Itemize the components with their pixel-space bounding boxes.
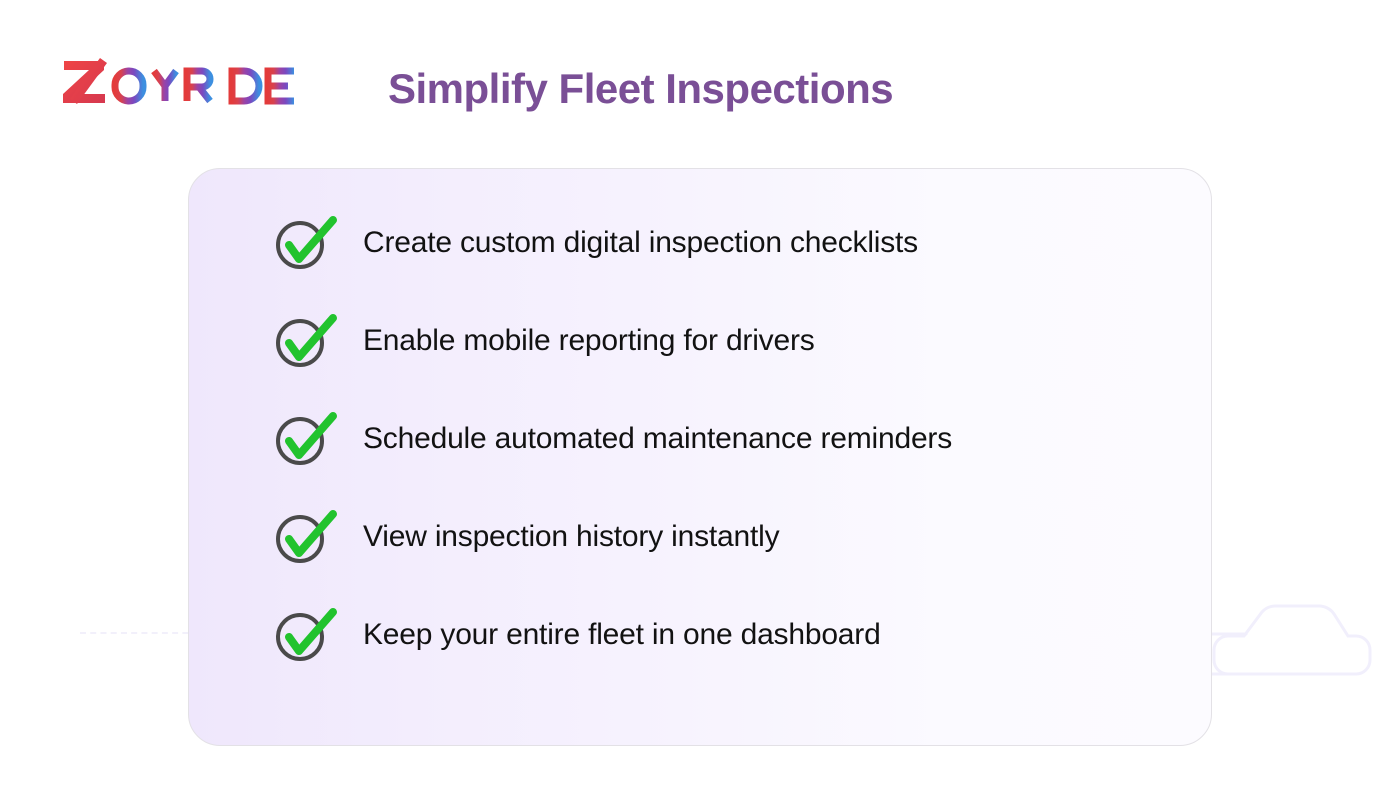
feature-list: Create custom digital inspection checkli… <box>275 217 1175 661</box>
list-item: Schedule automated maintenance reminders <box>275 413 1175 465</box>
check-circle-icon <box>275 412 337 466</box>
logo-wordmark <box>115 71 294 101</box>
check-circle-icon <box>275 608 337 662</box>
list-item: Keep your entire fleet in one dashboard <box>275 609 1175 661</box>
feature-card: Create custom digital inspection checkli… <box>188 168 1212 746</box>
logo-z-monogram <box>63 58 107 104</box>
page-title: Simplify Fleet Inspections <box>388 58 893 120</box>
logo-mark <box>60 55 300 107</box>
list-item: Enable mobile reporting for drivers <box>275 315 1175 367</box>
list-item-label: View inspection history instantly <box>363 518 779 556</box>
list-item-label: Create custom digital inspection checkli… <box>363 224 918 262</box>
list-item: Create custom digital inspection checkli… <box>275 217 1175 269</box>
list-item-label: Keep your entire fleet in one dashboard <box>363 616 881 654</box>
check-circle-icon <box>275 510 337 564</box>
list-item-label: Enable mobile reporting for drivers <box>363 322 815 360</box>
check-circle-icon <box>275 314 337 368</box>
list-item: View inspection history instantly <box>275 511 1175 563</box>
list-item-label: Schedule automated maintenance reminders <box>363 420 952 458</box>
check-circle-icon <box>275 216 337 270</box>
page-header: Simplify Fleet Inspections <box>0 0 1400 150</box>
zoyride-logo[interactable] <box>60 55 300 107</box>
